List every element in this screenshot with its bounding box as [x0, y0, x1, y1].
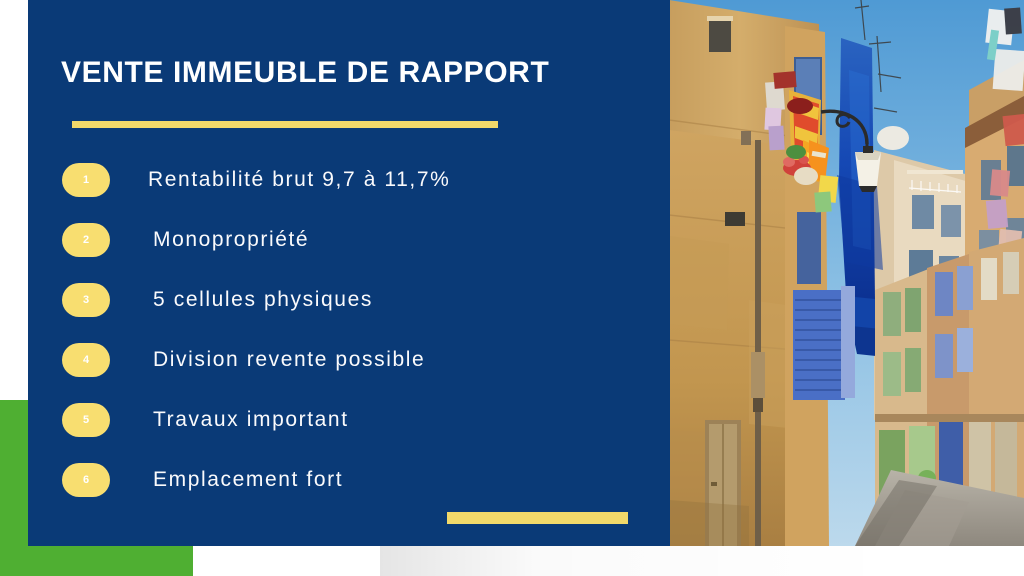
list-item: 5 Travaux important: [28, 400, 670, 460]
street-photo-illustration: [669, 0, 1024, 546]
street-photo: [669, 0, 1024, 546]
list-item-number-badge: 6: [62, 463, 110, 497]
list-item-label: Travaux important: [153, 400, 349, 440]
list-item-number-badge: 5: [62, 403, 110, 437]
footer-shadow: [380, 546, 900, 576]
list-item-number-badge: 4: [62, 343, 110, 377]
list-item: 1 Rentabilité brut 9,7 à 11,7%: [28, 160, 670, 220]
list-item-number-badge: 2: [62, 223, 110, 257]
slide: VENTE IMMEUBLE DE RAPPORT 1 Rentabilité …: [0, 0, 1024, 576]
list-item-label: Emplacement fort: [153, 460, 343, 500]
bottom-accent-bar: [447, 512, 628, 524]
list-item-label: Monopropriété: [153, 220, 309, 260]
content-panel: VENTE IMMEUBLE DE RAPPORT 1 Rentabilité …: [28, 0, 670, 546]
list-item-label: 5 cellules physiques: [153, 280, 373, 320]
page-title: VENTE IMMEUBLE DE RAPPORT: [61, 56, 549, 90]
list-item: 2 Monopropriété: [28, 220, 670, 280]
list-item: 4 Division revente possible: [28, 340, 670, 400]
list-item-number-badge: 1: [62, 163, 110, 197]
list-item: 6 Emplacement fort: [28, 460, 670, 520]
list-item-number-badge: 3: [62, 283, 110, 317]
title-underline-rule: [72, 121, 498, 128]
list-item-label: Division revente possible: [153, 340, 425, 380]
list-item-label: Rentabilité brut 9,7 à 11,7%: [148, 160, 450, 200]
list-item: 3 5 cellules physiques: [28, 280, 670, 340]
feature-list: 1 Rentabilité brut 9,7 à 11,7% 2 Monopro…: [28, 160, 670, 520]
